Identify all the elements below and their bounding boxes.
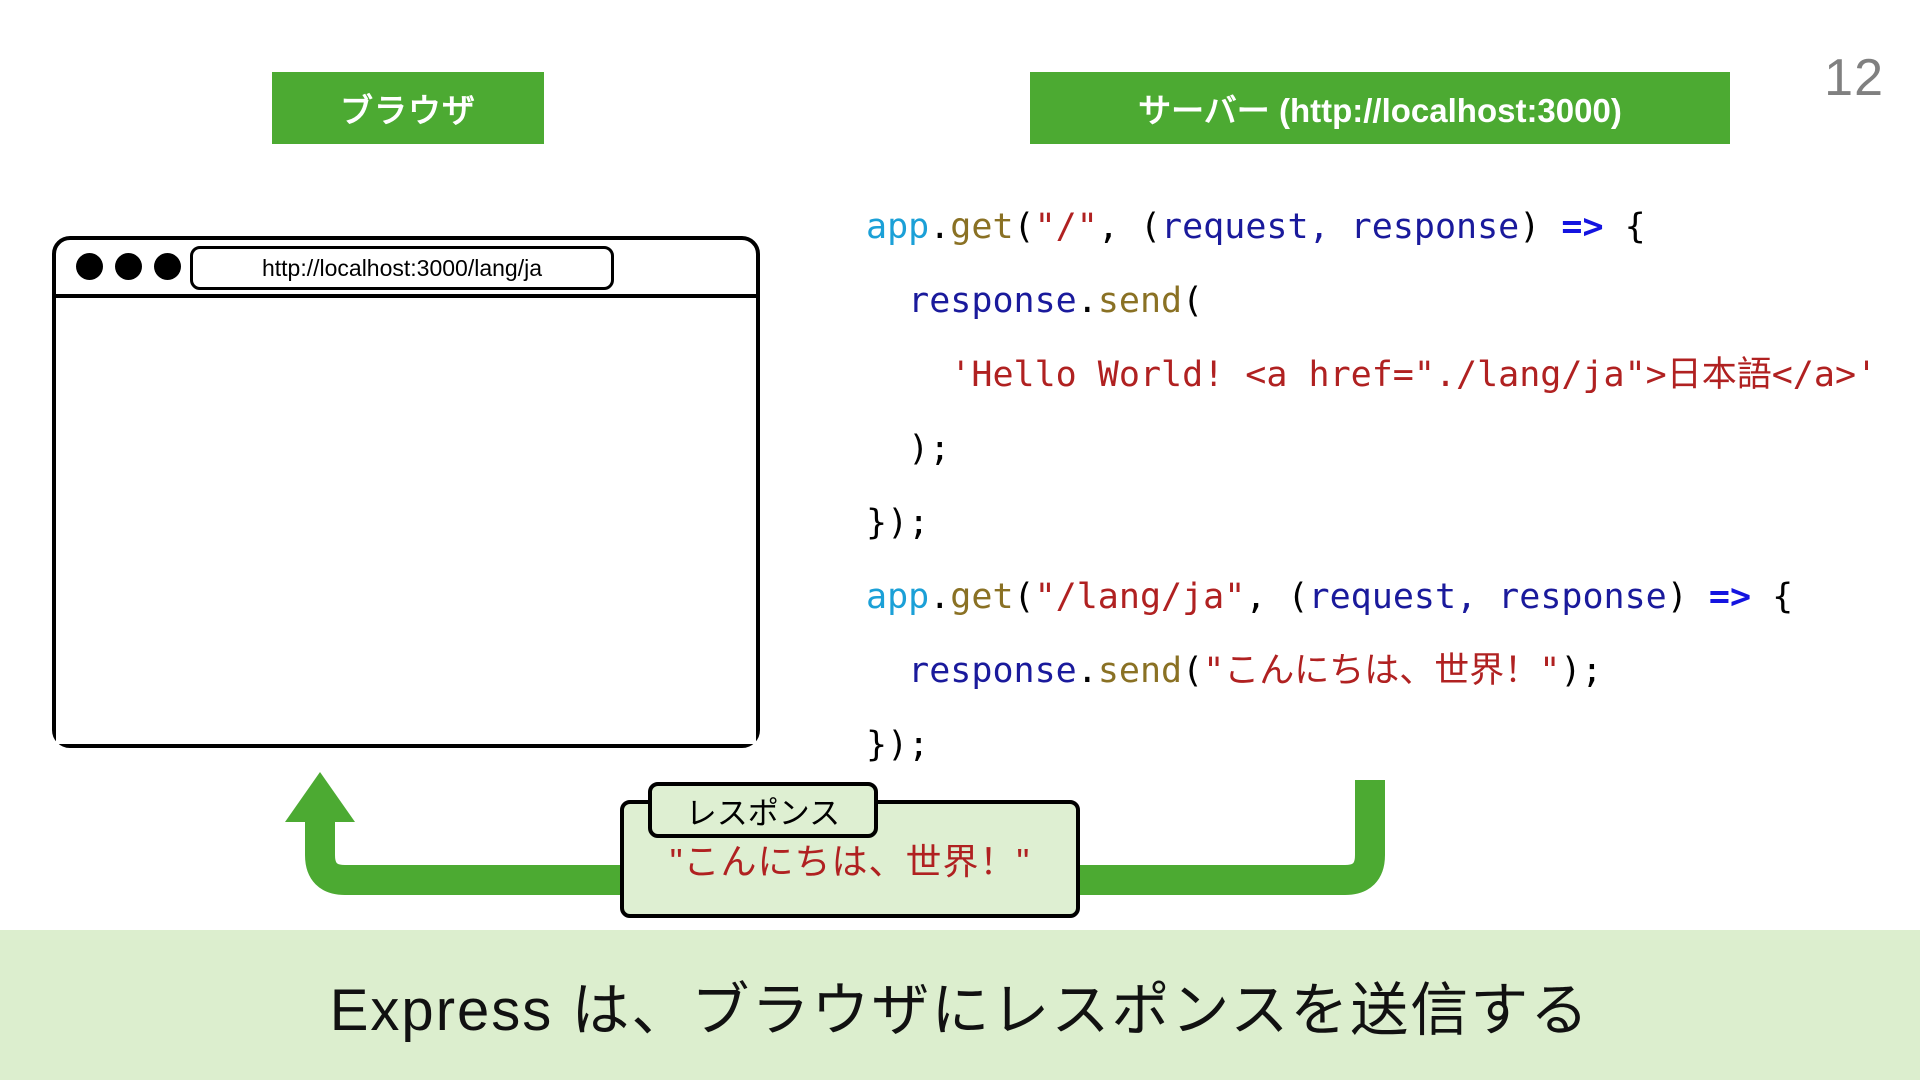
code-token-punct: . (1077, 651, 1098, 691)
code-line: }); (866, 708, 1877, 782)
code-token-punct: ( (1182, 651, 1203, 691)
code-line: response.send("こんにちは、世界！"); (866, 634, 1877, 708)
code-line: app.get("/", (request, response) => { (866, 190, 1877, 264)
browser-viewport (56, 298, 756, 744)
code-token-str: 'Hello World! <a href="./lang/ja">日本語</a… (950, 355, 1877, 395)
browser-chrome: http://localhost:3000/lang/ja (56, 240, 756, 298)
browser-header-label: ブラウザ (340, 84, 476, 132)
code-token-meth: get (950, 207, 1013, 247)
code-token-punct: ); (908, 429, 950, 469)
close-dot-icon[interactable] (76, 253, 103, 280)
minimize-dot-icon[interactable] (115, 253, 142, 280)
server-header-badge: サーバー (http://localhost:3000) (1030, 72, 1730, 144)
url-bar[interactable]: http://localhost:3000/lang/ja (190, 246, 614, 290)
code-token-punct: { (1604, 207, 1646, 247)
code-token-meth: send (1098, 281, 1182, 321)
code-token-punct: ( (1182, 281, 1203, 321)
window-control-dots (76, 253, 181, 280)
code-token-punct: . (1077, 281, 1098, 321)
maximize-dot-icon[interactable] (154, 253, 181, 280)
code-token-punct: , ( (1245, 577, 1308, 617)
code-token-punct: . (929, 577, 950, 617)
browser-header-badge: ブラウザ (272, 72, 544, 144)
code-token-meth: send (1098, 651, 1182, 691)
response-callout-value: "こんにちは、世界！" (670, 833, 1031, 885)
code-token-arrow: => (1561, 207, 1603, 247)
code-token-punct: , ( (1098, 207, 1161, 247)
code-token-punct: ) (1667, 577, 1709, 617)
code-line: ); (866, 412, 1877, 486)
code-token-punct: ( (1014, 207, 1035, 247)
code-token-param: request, response (1161, 207, 1519, 247)
code-token-punct: ) (1519, 207, 1561, 247)
code-token-punct: ); (1560, 651, 1602, 691)
code-token-obj: app (866, 577, 929, 617)
code-token-str: "/lang/ja" (1035, 577, 1246, 617)
caption-text: Express は、ブラウザにレスポンスを送信する (330, 963, 1590, 1047)
code-line: }); (866, 486, 1877, 560)
code-token-arrow: => (1709, 577, 1751, 617)
page-number: 12 (1824, 48, 1884, 108)
code-line: app.get("/lang/ja", (request, response) … (866, 560, 1877, 634)
server-code-block: app.get("/", (request, response) => { re… (866, 190, 1877, 782)
url-text: http://localhost:3000/lang/ja (262, 255, 542, 282)
code-token-param: request, response (1309, 577, 1667, 617)
code-line: response.send( (866, 264, 1877, 338)
code-token-meth: get (950, 577, 1013, 617)
code-token-obj: app (866, 207, 929, 247)
code-token-param: response (908, 651, 1077, 691)
code-token-str: "こんにちは、世界！" (1203, 651, 1560, 691)
code-token-param: response (908, 281, 1077, 321)
browser-window: http://localhost:3000/lang/ja (52, 236, 760, 748)
slide-root: 12 ブラウザ サーバー (http://localhost:3000) htt… (0, 0, 1920, 1080)
code-token-punct: }); (866, 503, 929, 543)
code-token-punct: }); (866, 725, 929, 765)
server-header-label: サーバー (http://localhost:3000) (1138, 84, 1622, 132)
code-token-punct: . (929, 207, 950, 247)
code-token-punct: { (1751, 577, 1793, 617)
code-line: 'Hello World! <a href="./lang/ja">日本語</a… (866, 338, 1877, 412)
response-callout-label: レスポンス (686, 788, 840, 833)
code-token-punct: ( (1014, 577, 1035, 617)
code-token-str: "/" (1035, 207, 1098, 247)
response-callout-label-tab: レスポンス (648, 782, 878, 838)
caption-band: Express は、ブラウザにレスポンスを送信する (0, 930, 1920, 1080)
